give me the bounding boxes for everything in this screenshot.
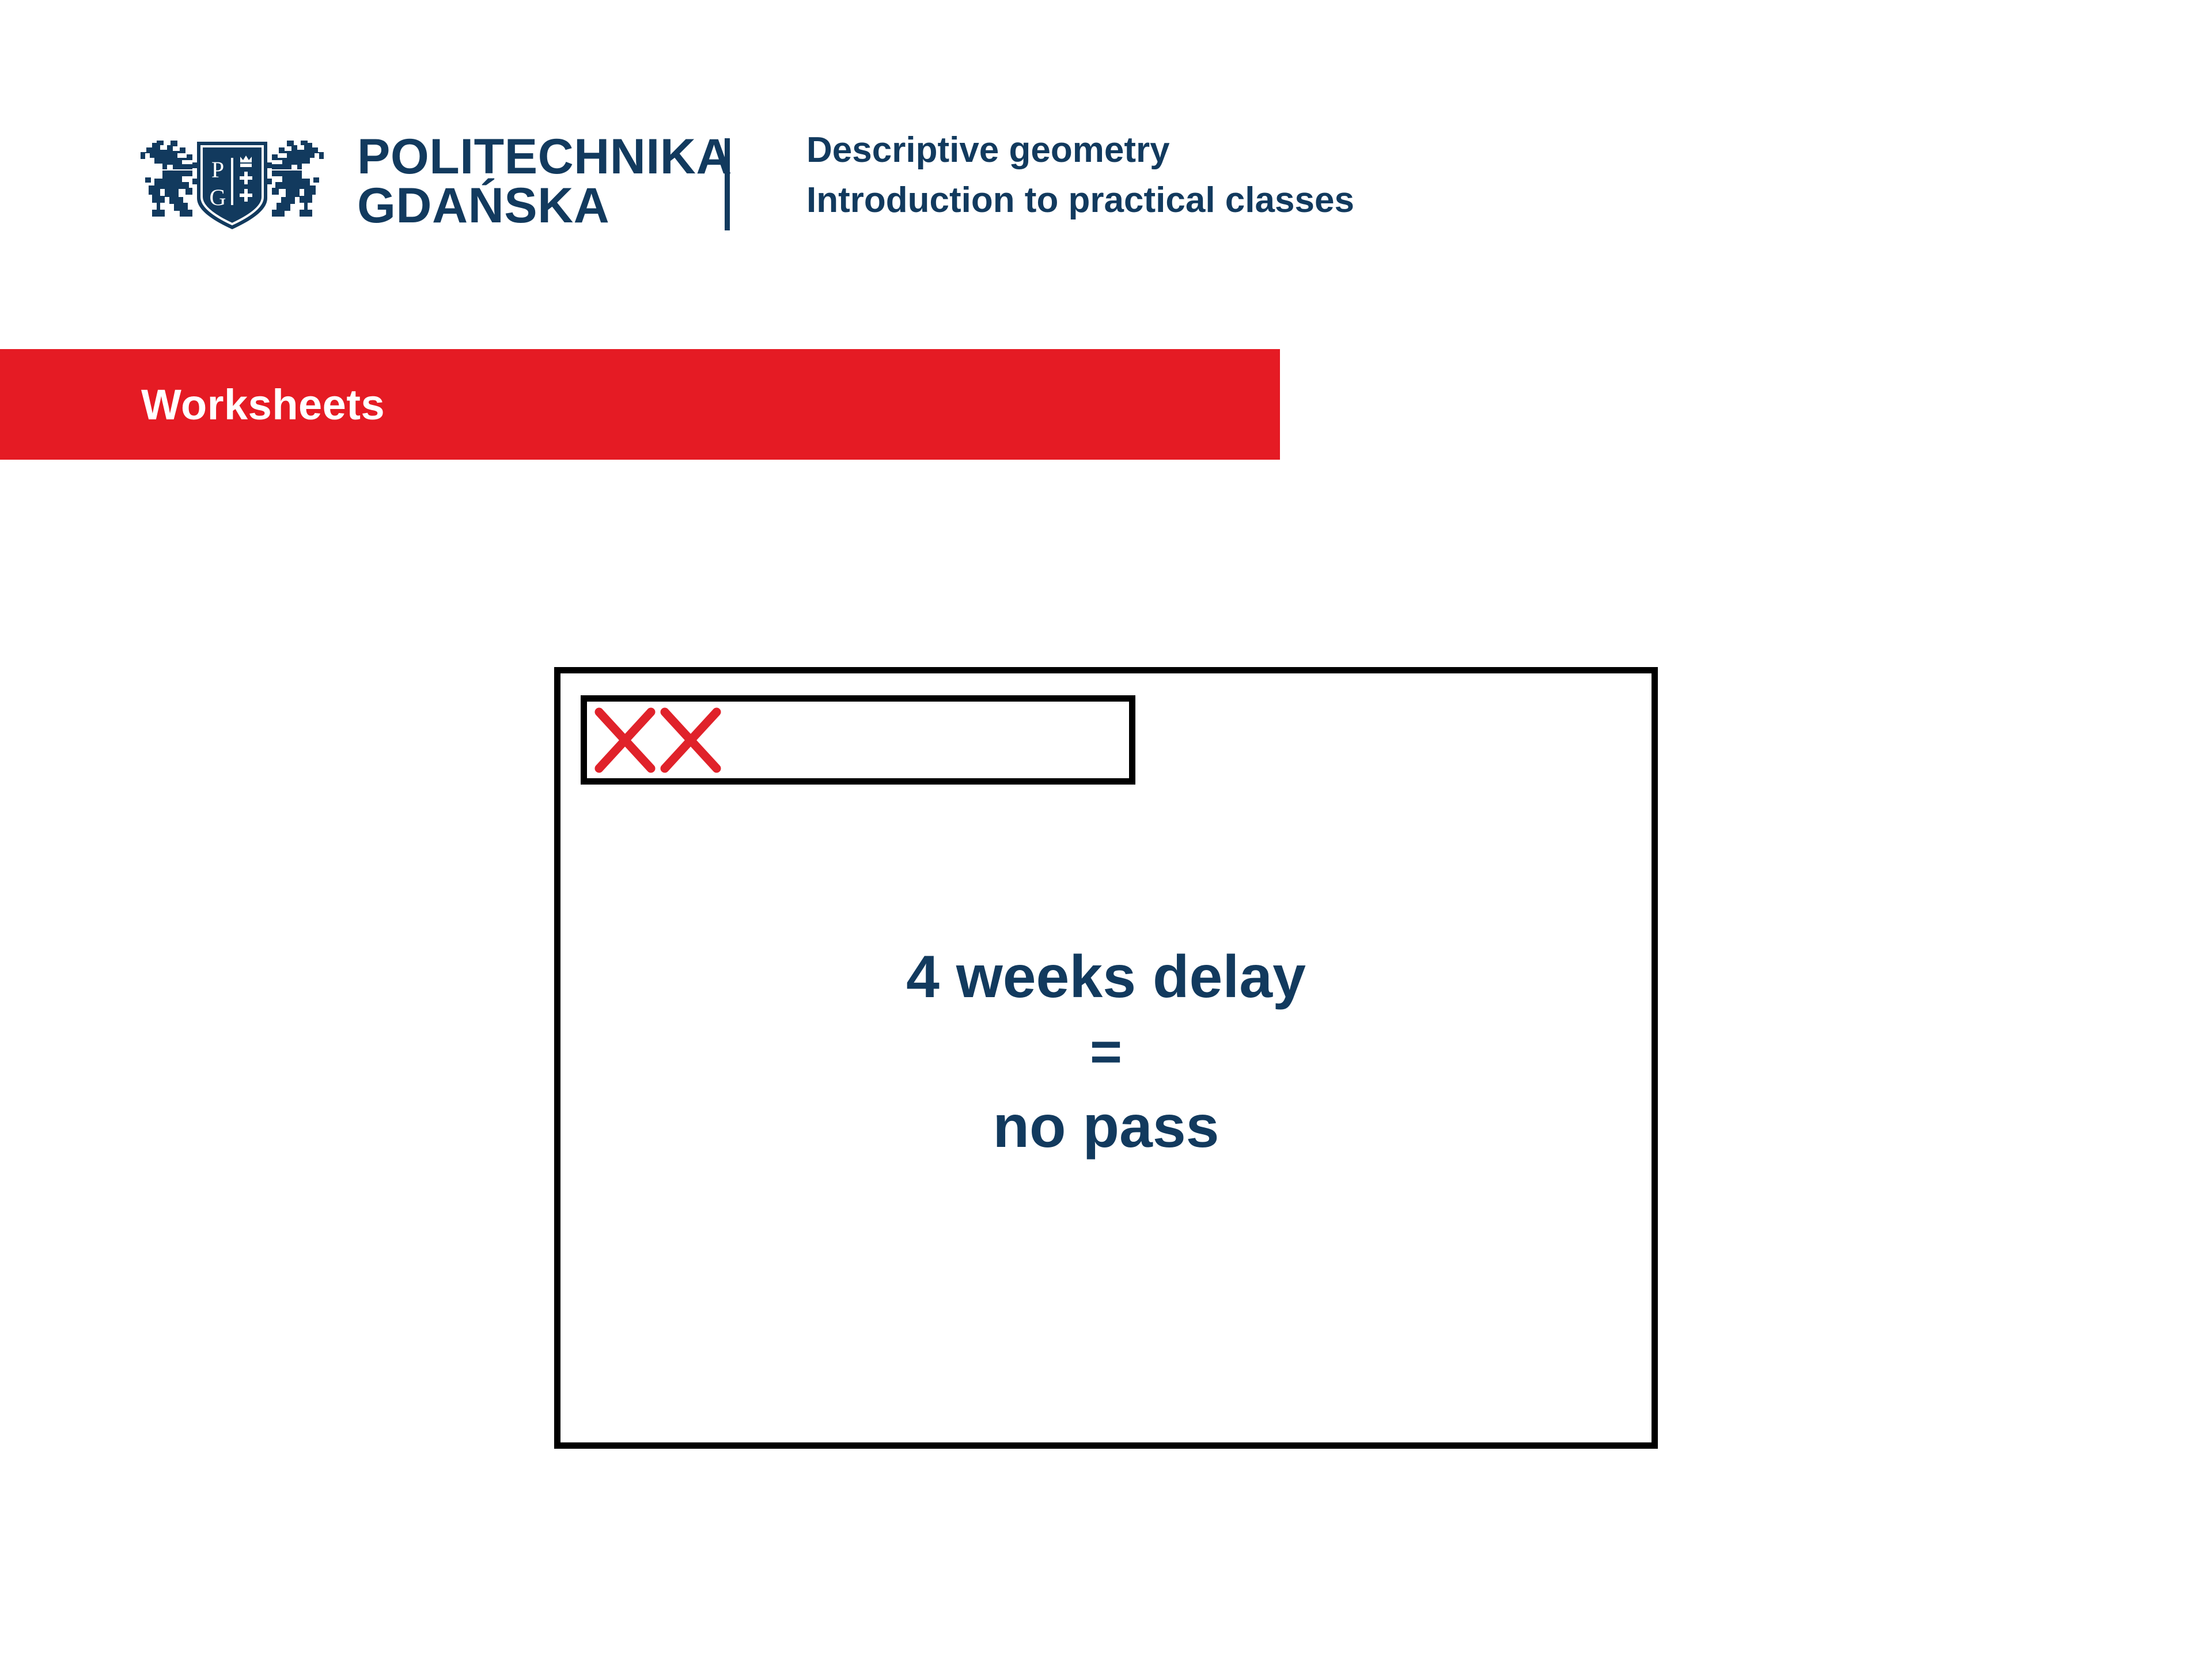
- red-cross-marks-icon: [591, 705, 735, 775]
- message-line-equals: =: [560, 1016, 1652, 1088]
- wordmark-line-2: GDAŃSKA: [357, 181, 732, 230]
- message-line-delay: 4 weeks delay: [560, 938, 1652, 1016]
- section-banner: Worksheets: [0, 349, 1280, 460]
- worksheet-titleblock: [581, 695, 1135, 785]
- vertical-divider-icon: [725, 138, 730, 230]
- section-title: Worksheets: [141, 380, 385, 429]
- slide-header: P G POLITECHNIKA GDAŃSKA Descriptive geo…: [0, 0, 2212, 349]
- university-logo: P G POLITECHNIKA GDAŃSKA: [137, 128, 696, 234]
- wordmark-line-1: POLITECHNIKA: [357, 132, 732, 181]
- shield-letter-g: G: [210, 184, 226, 210]
- gdansk-tech-crest-icon: P G: [137, 128, 327, 234]
- worksheet-frame: 4 weeks delay = no pass: [554, 667, 1658, 1449]
- worksheet-message: 4 weeks delay = no pass: [560, 938, 1652, 1166]
- course-title: Descriptive geometry: [806, 131, 2074, 169]
- message-line-result: no pass: [560, 1088, 1652, 1166]
- university-wordmark: POLITECHNIKA GDAŃSKA: [357, 132, 732, 230]
- course-heading: Descriptive geometry Introduction to pra…: [806, 131, 2074, 219]
- shield-letter-p: P: [211, 157, 224, 183]
- course-subtitle: Introduction to practical classes: [806, 181, 2074, 219]
